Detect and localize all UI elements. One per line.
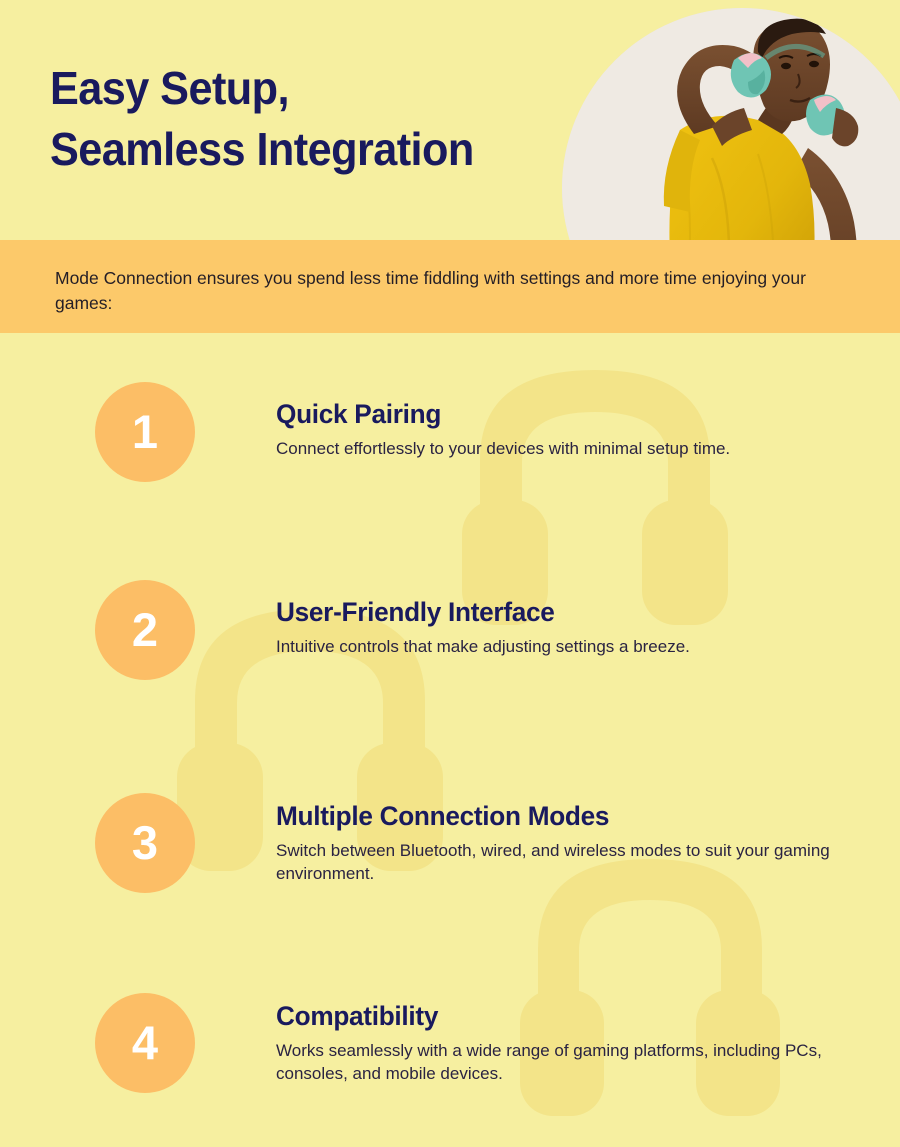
list-item-number: 1 — [132, 408, 158, 455]
list-item-number: 2 — [132, 606, 158, 653]
list-item-title: User-Friendly Interface — [276, 597, 839, 627]
list-item-description: Intuitive controls that make adjusting s… — [276, 636, 846, 659]
list-item-content: Compatibility Works seamlessly with a wi… — [276, 1001, 856, 1086]
list-item-number-badge: 3 — [95, 793, 195, 893]
list-item-description: Switch between Bluetooth, wired, and wir… — [276, 840, 856, 886]
list-item-content: Quick Pairing Connect effortlessly to yo… — [276, 399, 856, 461]
list-item-number: 3 — [132, 819, 158, 866]
list-item-number: 4 — [132, 1019, 158, 1066]
list-item-description: Works seamlessly with a wide range of ga… — [276, 1040, 836, 1086]
intro-banner: Mode Connection ensures you spend less t… — [0, 240, 900, 333]
list-item-title: Compatibility — [276, 1001, 839, 1031]
list-item-number-badge: 1 — [95, 382, 195, 482]
list-item-number-badge: 4 — [95, 993, 195, 1093]
list-item-number-badge: 2 — [95, 580, 195, 680]
list-item-content: User-Friendly Interface Intuitive contro… — [276, 597, 856, 659]
feature-list: 1 Quick Pairing Connect effortlessly to … — [0, 0, 900, 1147]
list-item-title: Quick Pairing — [276, 399, 839, 429]
list-item-title: Multiple Connection Modes — [276, 801, 839, 831]
infographic-page: Easy Setup, Seamless Integration Mode Co… — [0, 0, 900, 1147]
list-item-content: Multiple Connection Modes Switch between… — [276, 801, 856, 886]
intro-banner-text: Mode Connection ensures you spend less t… — [55, 266, 845, 317]
list-item-description: Connect effortlessly to your devices wit… — [276, 438, 846, 461]
